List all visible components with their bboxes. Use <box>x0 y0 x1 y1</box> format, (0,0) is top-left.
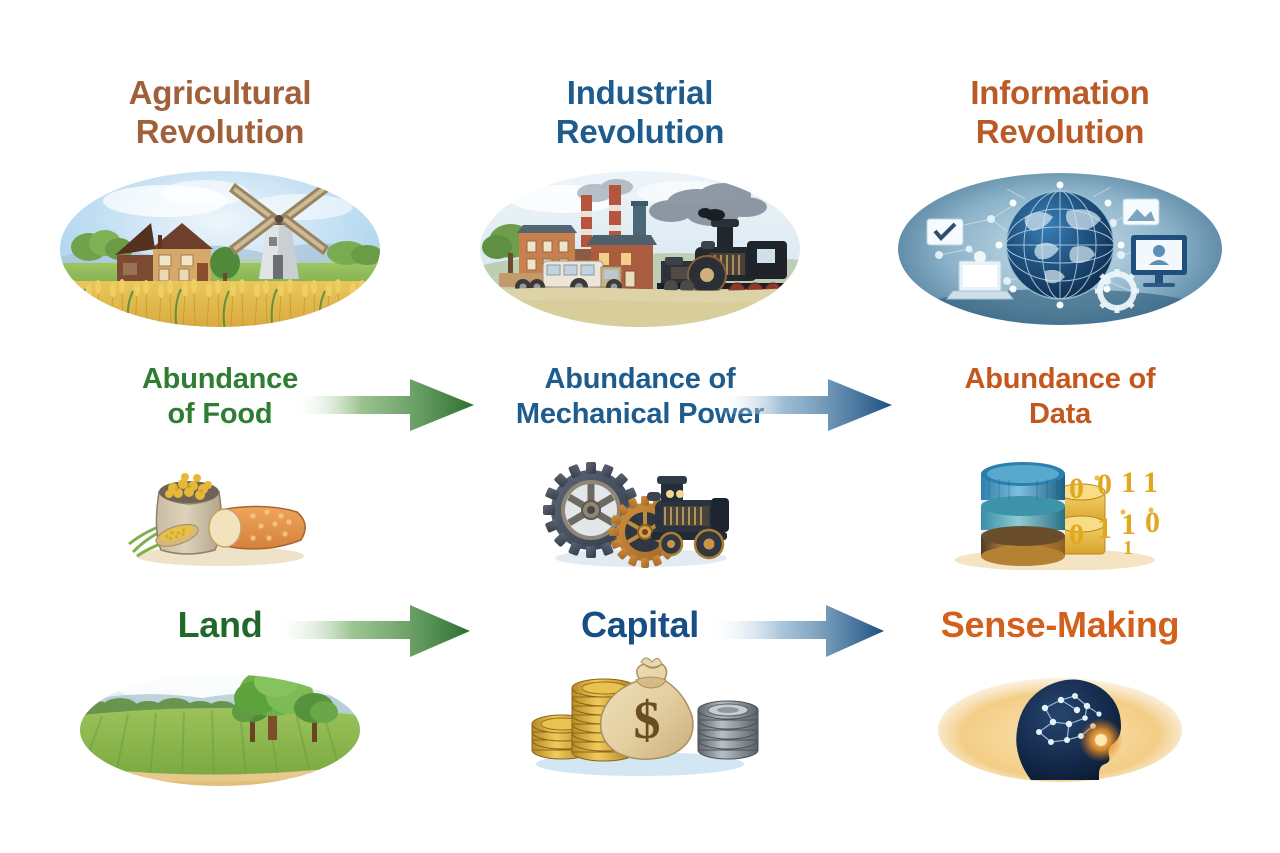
arrow-land-to-capital <box>272 603 477 659</box>
abundance-icons-row: 0 0 1 1 0 1 1 0 1 <box>0 448 1280 568</box>
column-information-heading: Information Revolution <box>858 74 1262 151</box>
gold-coins-money-bag-illustration: $ <box>512 652 768 778</box>
icon-abundance-data: 0 0 1 1 0 1 1 0 1 <box>858 448 1262 570</box>
money-bag-dollar-symbol: $ <box>634 690 661 750</box>
green-field-trees-illustration <box>72 652 368 788</box>
column-agricultural-heading: Agricultural Revolution <box>18 74 422 151</box>
icon-sense-making <box>858 652 1262 790</box>
heading-information-revolution: Information Revolution <box>858 74 1262 151</box>
svg-text:1: 1 <box>1143 466 1158 499</box>
icon-abundance-food <box>18 448 422 568</box>
resource-information: Sense-Making <box>858 604 1262 646</box>
icon-capital: $ <box>438 652 842 778</box>
icon-land <box>18 652 422 788</box>
arrow-power-to-data <box>716 376 901 434</box>
svg-text:0: 0 <box>1097 468 1112 501</box>
column-industrial-heading: Industrial Revolution <box>438 74 842 151</box>
scene-information <box>858 163 1262 335</box>
scene-industrial <box>438 163 842 331</box>
icon-abundance-mechanical-power <box>438 448 842 568</box>
binary-digit-group-top: 0 <box>1069 472 1084 505</box>
farmhouse-windmill-wheatfield-illustration <box>55 163 385 331</box>
heading-agricultural-revolution: Agricultural Revolution <box>18 74 422 151</box>
svg-text:1: 1 <box>1123 537 1133 559</box>
database-cylinders-binary-digits-illustration: 0 0 1 1 0 1 1 0 1 <box>945 448 1175 570</box>
scene-illustrations-row <box>0 163 1280 338</box>
label-sense-making: Sense-Making <box>858 604 1262 646</box>
arrow-food-to-power <box>292 376 477 434</box>
abundance-labels-row: Abundance of Food Abundance of Mechanica… <box>0 362 1280 438</box>
human-head-neural-network-illustration <box>935 652 1185 790</box>
digital-globe-network-devices-illustration <box>895 163 1225 335</box>
gears-steam-engine-illustration <box>533 448 748 568</box>
infographic-canvas: Agricultural Revolution Industrial Revol… <box>0 0 1280 853</box>
heading-industrial-revolution: Industrial Revolution <box>438 74 842 151</box>
abundance-information: Abundance of Data <box>858 362 1262 433</box>
resource-icons-row: $ <box>0 652 1280 797</box>
factory-smokestacks-steam-locomotive-illustration <box>475 163 805 331</box>
scene-agricultural <box>18 163 422 331</box>
svg-text:1: 1 <box>1121 466 1136 499</box>
headings-row: Agricultural Revolution Industrial Revol… <box>0 74 1280 154</box>
svg-text:1: 1 <box>1097 512 1112 545</box>
grain-sack-bread-illustration <box>115 448 325 568</box>
arrow-capital-to-sense-making <box>706 603 891 659</box>
label-abundance-of-data: Abundance of Data <box>858 362 1262 433</box>
resource-labels-row: Land Capital Sense-Making <box>0 604 1280 652</box>
svg-text:0: 0 <box>1069 518 1084 551</box>
